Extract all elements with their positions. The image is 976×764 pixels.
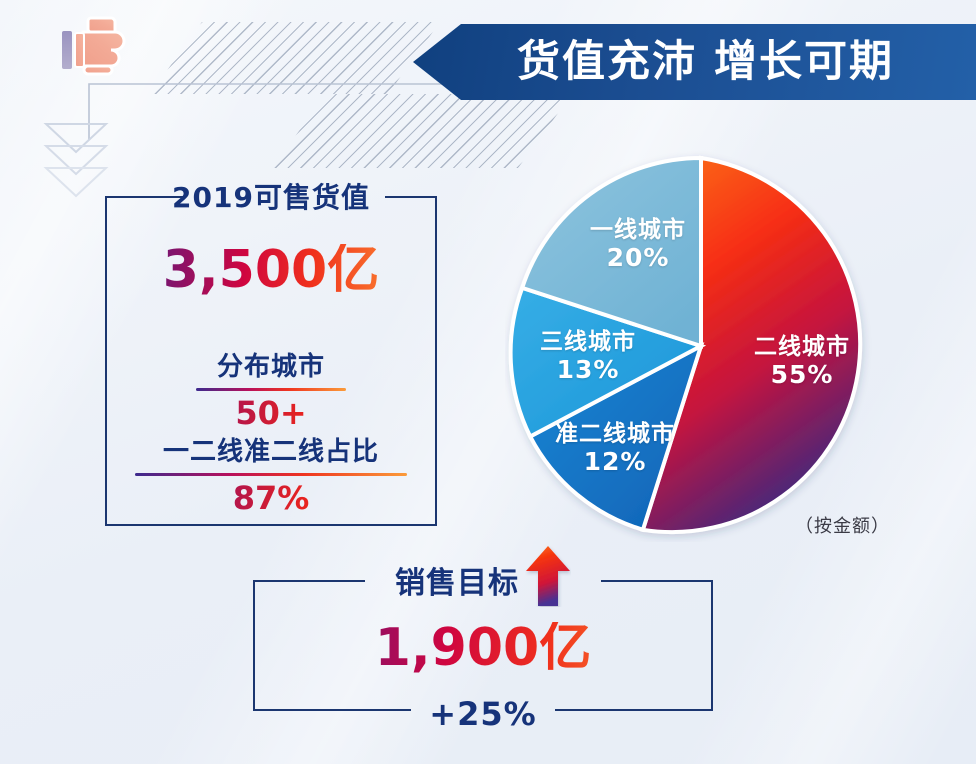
title-banner: 货值充沛 增长可期: [413, 24, 976, 100]
metric-tier-share-label: 一二线准二线占比: [163, 431, 379, 471]
sales-target-heading: 销售目标: [253, 553, 713, 607]
thumbs-up-icon: [55, 14, 135, 84]
metric-city-count-value: 50+: [105, 395, 437, 432]
city-tier-pie-chart: 二线城市 55% 准二线城市 12% 三线城市 13% 一线城市 20%: [505, 150, 897, 542]
sales-target-label: 销售目标: [395, 558, 519, 602]
sales-target-box: 销售目标 1,900亿 +25%: [253, 580, 713, 711]
chevron-down-triangles-icon: [38, 118, 114, 204]
metric-tier-share-rule: [135, 473, 407, 476]
metric-city-count: 分布城市 50+: [105, 346, 437, 432]
card-title-text: 2019可售货值: [160, 181, 382, 214]
arrow-up-icon: [525, 545, 571, 607]
sales-target-growth: +25%: [253, 695, 713, 733]
pie-slices: [511, 158, 861, 532]
sellable-value-card: 2019可售货值 3,500亿 分布城市 50+ 一二线准二线占比 87%: [105, 196, 437, 526]
metric-tier-share: 一二线准二线占比 87%: [105, 431, 437, 517]
card-border-bottom: [105, 524, 437, 526]
sales-target-value: 1,900亿: [253, 622, 713, 674]
sellable-value-amount: 3,500亿: [105, 244, 437, 296]
card-title: 2019可售货值: [105, 176, 437, 216]
pie-caption: （按金额）: [795, 512, 890, 538]
page-title: 货值充沛 增长可期: [517, 41, 894, 84]
slide-canvas: 货值充沛 增长可期 2019可售货值 3,500亿 分布城市 50+ 一二线准二…: [0, 0, 976, 764]
metric-city-count-label: 分布城市: [217, 346, 325, 386]
pie-svg: [505, 150, 897, 542]
metric-city-count-rule: [196, 388, 346, 391]
metric-tier-share-value: 87%: [105, 480, 437, 517]
